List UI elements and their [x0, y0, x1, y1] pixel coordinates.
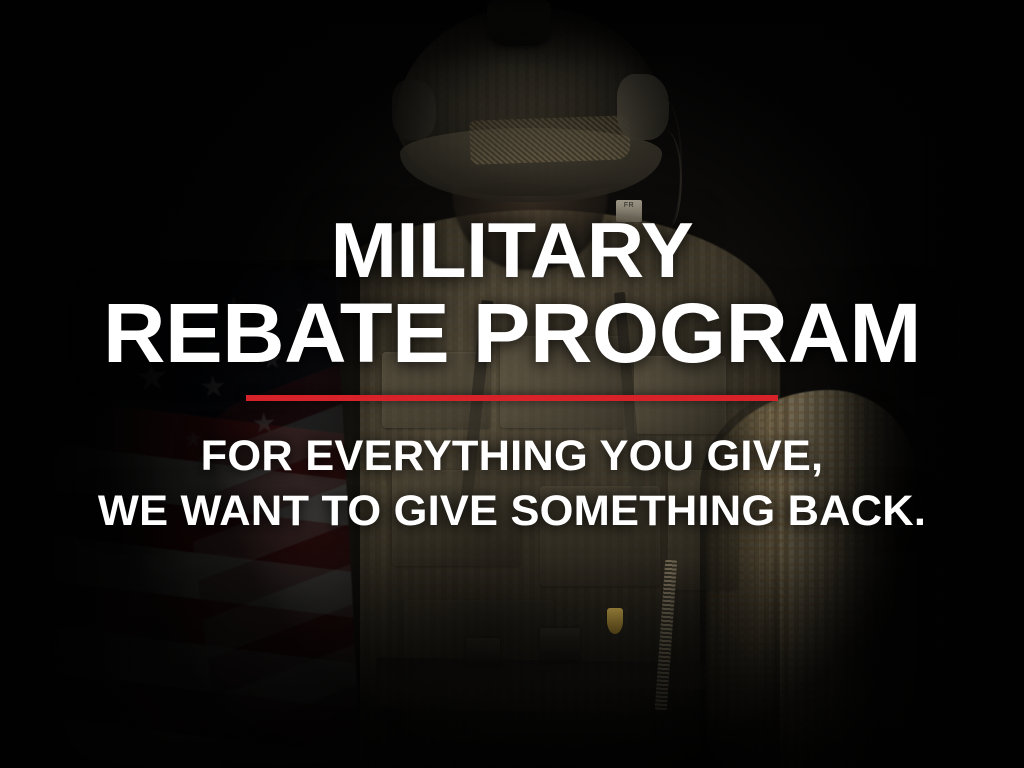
headline-line-1: MILITARY	[0, 212, 1024, 288]
military-rebate-poster: FR MILITARY REBATE PROGRAM FOR	[0, 0, 1024, 768]
subhead-block: FOR EVERYTHING YOU GIVE, WE WANT TO GIVE…	[0, 429, 1024, 539]
headline-block: MILITARY REBATE PROGRAM	[0, 212, 1024, 375]
text-overlay: MILITARY REBATE PROGRAM FOR EVERYTHING Y…	[0, 0, 1024, 768]
headline-line-2: REBATE PROGRAM	[0, 292, 1024, 374]
red-divider-rule	[246, 395, 778, 401]
subhead-line-2: WE WANT TO GIVE SOMETHING BACK.	[0, 484, 1024, 539]
subhead-line-1: FOR EVERYTHING YOU GIVE,	[0, 429, 1024, 484]
